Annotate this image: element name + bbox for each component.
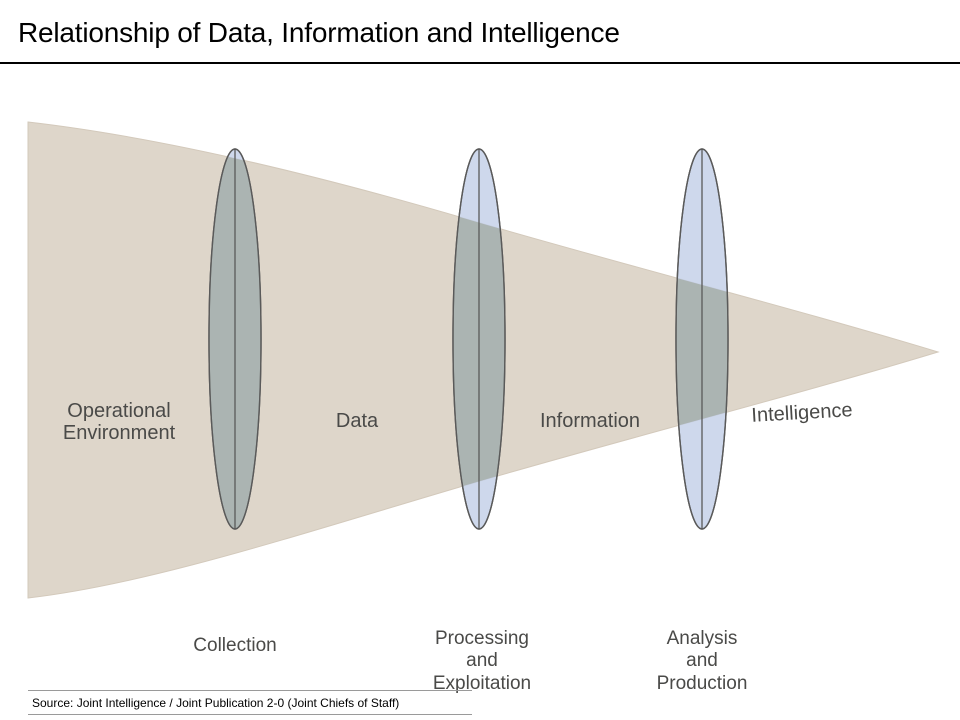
slide-canvas: Relationship of Data, Information and In… [0, 0, 960, 720]
funnel-diagram: OperationalEnvironment Data Information … [0, 64, 960, 664]
title-bar: Relationship of Data, Information and In… [0, 0, 960, 64]
source-bottom-rule [28, 714, 472, 715]
process-label-analysis-line3: Production [657, 673, 748, 694]
source-top-rule [28, 690, 472, 691]
source-note: Source: Joint Intelligence / Joint Publi… [32, 696, 399, 710]
funnel-diagram-svg [0, 64, 960, 664]
page-title: Relationship of Data, Information and In… [18, 17, 620, 49]
